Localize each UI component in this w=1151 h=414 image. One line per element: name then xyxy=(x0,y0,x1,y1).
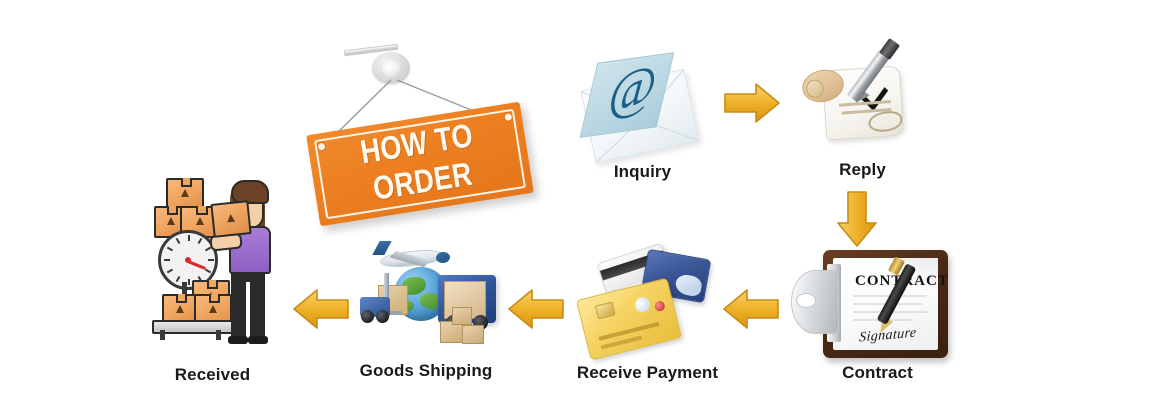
step-icon-contract: CONTRACT Signature xyxy=(805,248,950,363)
ground-cargo-box xyxy=(462,325,484,344)
person-shoe xyxy=(248,336,268,344)
step-icon-inquiry: @ xyxy=(575,55,710,155)
dial-tick xyxy=(208,259,214,261)
step-label-inquiry: Inquiry xyxy=(575,162,710,182)
dial-tick xyxy=(188,279,190,285)
fragile-arrow-icon xyxy=(181,189,189,197)
credit-card-gold xyxy=(576,278,682,361)
person-shoe xyxy=(228,336,248,344)
card-hologram xyxy=(633,296,651,314)
how-to-order-sign: HOW TO ORDER xyxy=(300,38,540,238)
scale-foot xyxy=(216,330,221,340)
step-label-contract: Contract xyxy=(805,363,950,383)
dial-tick xyxy=(188,235,190,241)
how-to-order-diagram: HOW TO ORDER @ Inquiry xyxy=(0,0,1151,414)
forklift-body xyxy=(360,297,390,317)
airplane-tail xyxy=(372,241,391,255)
step-icon-goods-shipping xyxy=(352,245,502,360)
fragile-arrow-icon xyxy=(196,217,204,225)
step-icon-receive-payment xyxy=(580,248,710,358)
person-legs xyxy=(231,268,265,340)
card-logo xyxy=(674,273,703,297)
dial-tick xyxy=(176,238,181,244)
held-package-box xyxy=(210,200,251,238)
arrow-inquiry-to-reply xyxy=(723,82,781,124)
step-icon-reply xyxy=(800,50,925,155)
scale-foot xyxy=(160,330,165,340)
dial-tick xyxy=(164,259,170,261)
dial-tick xyxy=(198,238,203,244)
card-chip-icon xyxy=(595,302,616,320)
step-label-received: Received xyxy=(145,365,280,385)
forklift-wheel xyxy=(361,310,374,323)
fragile-arrow-icon xyxy=(226,213,235,222)
step-icon-received xyxy=(152,178,282,358)
fragile-arrow-icon xyxy=(176,305,184,313)
fragile-arrow-icon xyxy=(167,217,175,225)
step-label-reply: Reply xyxy=(800,160,925,180)
clipboard-clip-tag xyxy=(791,270,839,334)
doc-scribble xyxy=(868,110,903,132)
dial-tick xyxy=(205,269,211,274)
airplane-nose xyxy=(435,251,450,263)
arrow-contract-to-payment xyxy=(722,288,780,330)
dial-tick xyxy=(167,269,173,274)
step-label-goods-shipping: Goods Shipping xyxy=(346,361,506,381)
arrow-payment-to-shipping xyxy=(507,288,565,330)
dial-tick xyxy=(167,247,173,252)
arrow-reply-to-contract xyxy=(836,190,878,248)
step-label-receive-payment: Receive Payment xyxy=(565,363,730,383)
fragile-arrow-icon xyxy=(209,305,217,313)
dial-hub xyxy=(185,257,191,263)
dial-tick xyxy=(176,276,181,282)
arrow-shipping-to-received xyxy=(292,288,350,330)
at-symbol-icon: @ xyxy=(607,56,659,125)
forklift-wheel xyxy=(376,310,389,323)
card-brand-dot xyxy=(654,300,666,312)
ground-cargo-box xyxy=(452,307,472,325)
